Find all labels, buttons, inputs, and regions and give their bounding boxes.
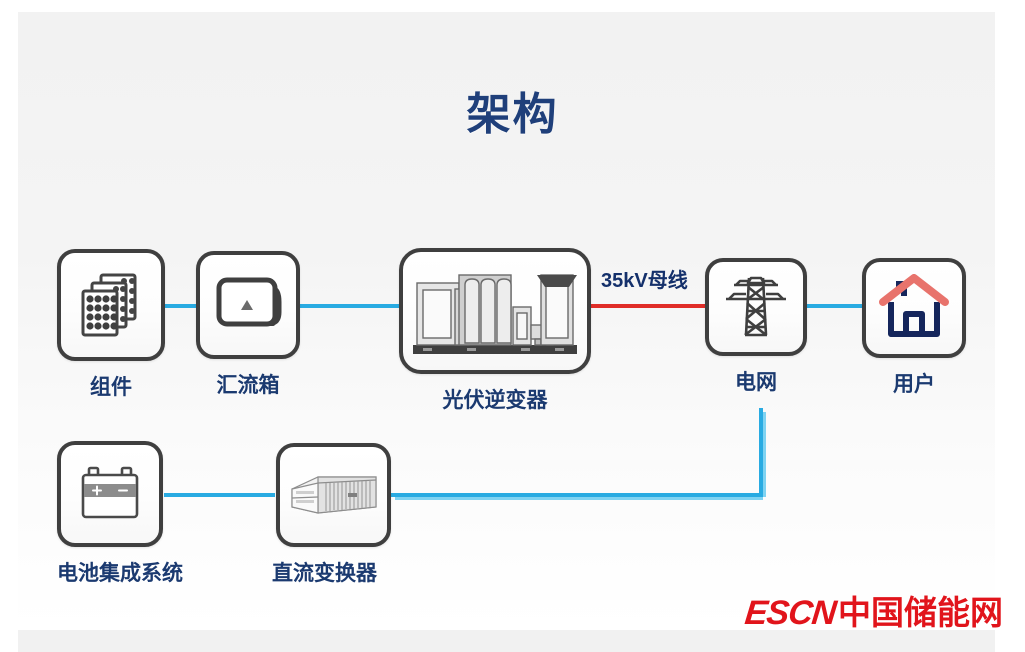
- escn-logo: ESCN 中国储能网: [745, 596, 1003, 630]
- power-grid-box[interactable]: [705, 258, 807, 356]
- user-label: 用户: [862, 368, 966, 398]
- slide-bottom-strip: [18, 630, 995, 652]
- node-pv-inverter[interactable]: 光伏逆变器: [399, 248, 591, 414]
- node-user[interactable]: 用户: [862, 258, 966, 398]
- pv-inverter-box[interactable]: [399, 248, 591, 374]
- diagram-canvas: 架构 35kV母线: [0, 0, 1025, 652]
- combiner-box-icon: [200, 255, 296, 355]
- node-power-grid[interactable]: 电网: [705, 258, 807, 396]
- battery-system-label: 电池集成系统: [57, 557, 163, 587]
- dc-converter-icon: [280, 447, 387, 543]
- node-battery-system[interactable]: 电池集成系统: [57, 441, 163, 587]
- connector-combiner-to-inverter: [298, 304, 402, 308]
- combiner-box-label: 汇流箱: [196, 369, 300, 399]
- battery-system-box[interactable]: [57, 441, 163, 547]
- node-dc-converter[interactable]: 直流变换器: [276, 443, 391, 587]
- page-title: 架构: [0, 78, 1025, 142]
- connector-highlight-vertical: [763, 412, 766, 497]
- node-pv-module[interactable]: 组件: [57, 249, 165, 401]
- pv-module-label: 组件: [57, 371, 165, 401]
- connector-battery-to-converter: [164, 493, 275, 497]
- inverter-station-icon: [403, 252, 587, 370]
- connector-highlight-horizontal: [395, 497, 763, 500]
- logo-text-en: ESCN: [743, 596, 837, 630]
- transmission-tower-icon: [709, 262, 803, 352]
- power-grid-label: 电网: [705, 366, 807, 396]
- house-icon: [866, 262, 962, 354]
- dc-converter-box[interactable]: [276, 443, 391, 547]
- pv-inverter-label: 光伏逆变器: [399, 384, 591, 414]
- node-combiner-box[interactable]: 汇流箱: [196, 251, 300, 399]
- connector-inverter-to-grid: [588, 304, 706, 308]
- logo-text-cn: 中国储能网: [838, 596, 1003, 629]
- pv-module-box[interactable]: [57, 249, 165, 361]
- connector-grid-to-user: [806, 304, 862, 308]
- bus-voltage-label: 35kV母线: [601, 264, 688, 293]
- combiner-box-box[interactable]: [196, 251, 300, 359]
- dc-converter-label: 直流变换器: [272, 557, 391, 587]
- solar-panel-icon: [61, 253, 161, 357]
- user-box[interactable]: [862, 258, 966, 358]
- battery-icon: [61, 445, 159, 543]
